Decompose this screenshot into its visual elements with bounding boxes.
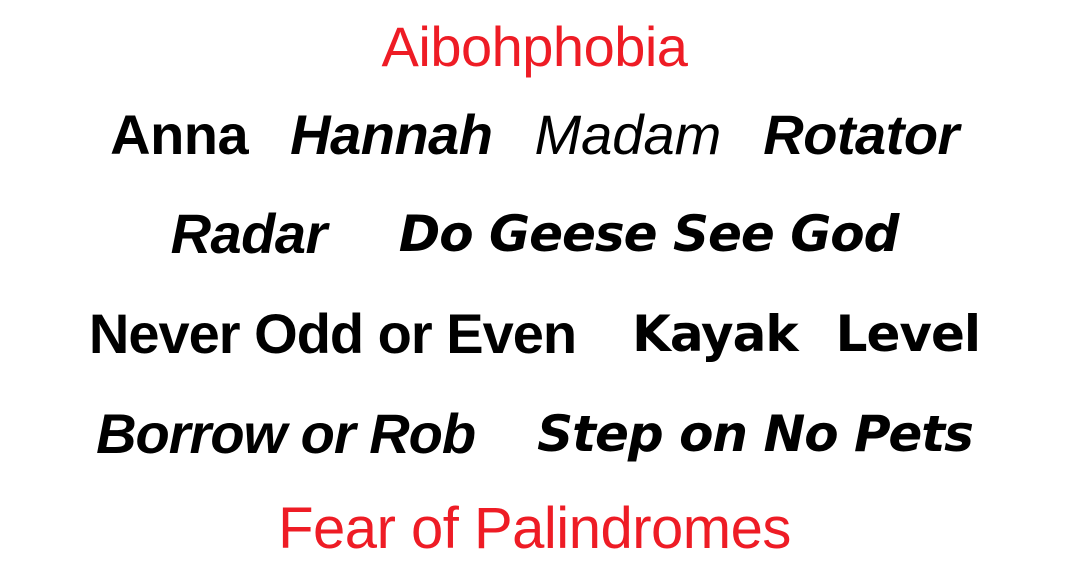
palindrome-row-1: Anna Hannah Madam Rotator [0, 86, 1069, 184]
palindrome-word-rotator: Rotator [763, 107, 959, 163]
palindrome-poster: Aibohphobia Anna Hannah Madam Rotator Ra… [0, 0, 1069, 580]
footer-line: Fear of Palindromes [0, 484, 1069, 574]
palindrome-word-level: Level [836, 309, 980, 359]
page-footer-caption: Fear of Palindromes [278, 500, 791, 558]
title-line: Aibohphobia [0, 8, 1069, 86]
palindrome-word-kayak: Kayak [632, 309, 798, 359]
palindrome-phrase-do-geese-see-god: Do Geese See God [399, 209, 899, 259]
palindrome-row-2: Radar Do Geese See God [0, 184, 1069, 284]
palindrome-word-radar: Radar [171, 206, 327, 262]
palindrome-phrase-step-on-no-pets: Step on No Pets [537, 409, 973, 459]
page-title: Aibohphobia [382, 19, 688, 75]
palindrome-row-3: Never Odd or Even Kayak Level [0, 284, 1069, 384]
palindrome-row-4: Borrow or Rob Step on No Pets [0, 384, 1069, 484]
palindrome-word-anna: Anna [110, 107, 248, 163]
palindrome-phrase-borrow-or-rob: Borrow or Rob [96, 406, 475, 462]
palindrome-word-hannah: Hannah [290, 107, 492, 163]
palindrome-word-madam: Madam [535, 107, 722, 163]
palindrome-phrase-never-odd-or-even: Never Odd or Even [89, 306, 576, 362]
